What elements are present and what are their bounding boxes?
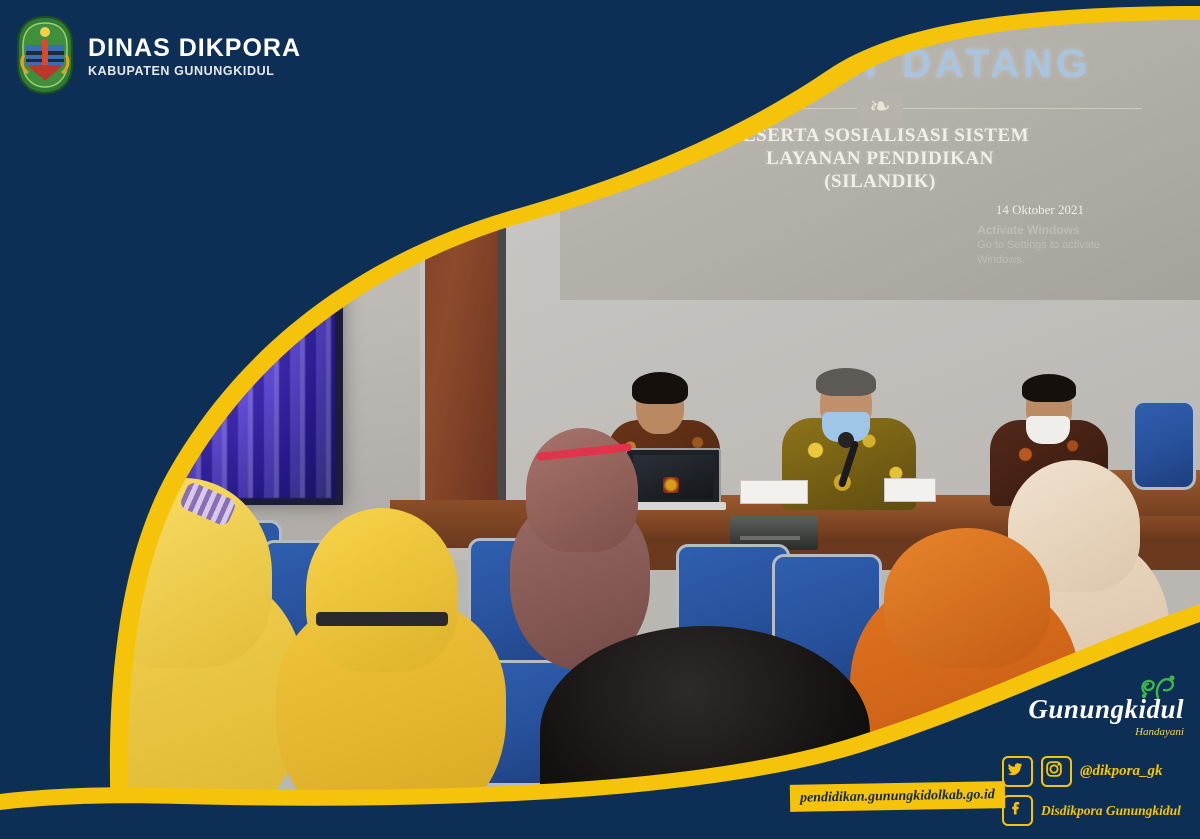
attendee-yellow-center-head: [306, 508, 458, 672]
green-flourish-icon: [1136, 672, 1178, 702]
instagram-icon[interactable]: [1041, 756, 1072, 787]
facebook-handle[interactable]: Disdikpora Gunungkidul: [1041, 803, 1181, 819]
brand-tagline: Handayani: [1004, 726, 1184, 738]
chair: [1132, 400, 1196, 490]
slide-date: 14 Oktober 2021: [996, 202, 1084, 218]
social-row-bottom: Disdikpora Gunungkidul: [1002, 795, 1186, 826]
watermark-line-1: Go to Settings to activate: [977, 239, 1100, 251]
laptop-screen: [633, 455, 713, 499]
watermark-title: Activate Windows: [977, 222, 1100, 238]
panelist-right-hair: [1022, 374, 1076, 402]
slide-subtitle: PESERTA SOSIALISASI SISTEM LAYANAN PENDI…: [560, 124, 1200, 194]
attendee-far-left-drape: [0, 600, 100, 839]
page-title: DINAS DIKPORA: [88, 36, 301, 61]
social-links: @dikpora_gk Disdikpora Gunungkidul: [1002, 756, 1186, 834]
poster-banner: SELAMAT DATANG ❧ PESERTA SOSIALISASI SIS…: [0, 0, 1200, 839]
slide-subtitle-line-1: PESERTA SOSIALISASI SISTEM: [560, 124, 1200, 147]
slide-content: SELAMAT DATANG ❧ PESERTA SOSIALISASI SIS…: [560, 0, 1200, 300]
wooden-door-panel: [425, 36, 497, 506]
website-badge[interactable]: pendidikan.gunungkidolkab.go.id: [790, 781, 1005, 812]
panelist-center-hair: [816, 368, 876, 396]
gunungkidul-brand-logo: Gunungkidul Handayani: [1004, 694, 1184, 738]
laptop: [625, 448, 721, 508]
slide-title: SELAMAT DATANG: [560, 42, 1200, 87]
curtain-rod-knob: [336, 116, 352, 134]
curtain-rod: [58, 113, 348, 120]
slide-ornament-icon: ❧: [560, 92, 1200, 122]
panelist-right-face-mask: [1026, 416, 1070, 444]
header-brand-text: DINAS DIKPORA KABUPATEN GUNUNGKIDUL: [88, 32, 301, 78]
door-edge: [497, 36, 506, 506]
twitter-icon[interactable]: [1002, 756, 1033, 787]
podium-nameplate: [42, 372, 94, 384]
gunungkidul-coat-of-arms-icon: [14, 15, 76, 95]
page-subtitle: KABUPATEN GUNUNGKIDUL: [88, 65, 301, 78]
header-brand: DINAS DIKPORA KABUPATEN GUNUNGKIDUL: [14, 12, 344, 98]
instagram-handle[interactable]: @dikpora_gk: [1080, 763, 1163, 780]
attendee-pink-mask-strap: [22, 488, 98, 497]
nameplate-center: [740, 480, 808, 504]
social-row-top: @dikpora_gk: [1002, 756, 1186, 787]
watermark-line-2: Windows.: [977, 254, 1025, 266]
attendee-pink-hijab-head: [4, 420, 110, 532]
attendee-orange-head: [884, 528, 1050, 668]
website-url[interactable]: pendidikan.gunungkidolkab.go.id: [800, 787, 995, 805]
slide-subtitle-line-3: (SILANDIK): [560, 170, 1200, 193]
facebook-icon[interactable]: [1002, 795, 1033, 826]
nameplate-right: [884, 478, 936, 502]
attendee-yellow-center-band: [316, 612, 448, 626]
panelist-left-hair: [632, 372, 688, 404]
laptop-emblem-icon: [663, 477, 679, 493]
windows-activation-watermark: Activate Windows Go to Settings to activ…: [977, 222, 1100, 268]
slide-subtitle-line-2: LAYANAN PENDIDIKAN: [560, 147, 1200, 170]
